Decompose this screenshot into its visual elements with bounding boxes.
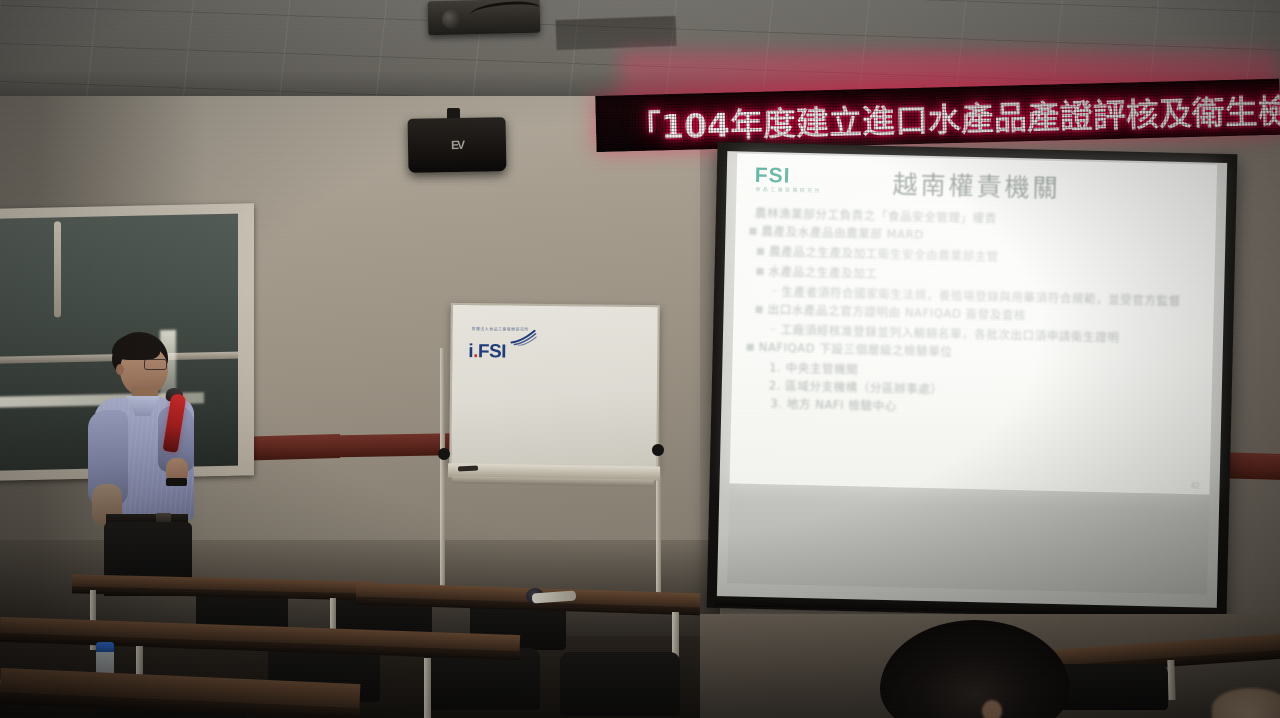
ifsi-logo: 財團法人食品工業發展研究所 i.FSI: [468, 341, 506, 363]
dado-band-mid: [250, 433, 460, 459]
slide-bullet-text: 農產及水產品由農業部 MARD: [761, 224, 924, 243]
window-blind-cord[interactable]: [54, 221, 61, 317]
whiteboard-pivot-knob-right[interactable]: [652, 444, 664, 456]
bullet-square-icon: [749, 224, 756, 241]
projected-slide: FSI 食品工業發展研究所 越南權責機關 農林漁業部分工負責之「食品安全管理」權…: [730, 153, 1218, 494]
chair[interactable]: [560, 652, 680, 716]
slide-bullet-text: 農產品之生產及加工衛生安全由農業部主管: [769, 244, 999, 264]
presenter: [82, 332, 222, 594]
slide-bullet-text: 3. 地方 NAFI 檢驗中心: [770, 396, 897, 414]
bullet-dash-icon: –: [772, 284, 777, 299]
slide-bullet-text: NAFIQAD 下設三個層級之檢驗單位: [759, 340, 953, 360]
whiteboard-marker[interactable]: [458, 465, 478, 471]
slide-bullet-text: 水產品之生產及加工: [768, 264, 877, 282]
whiteboard-pivot-knob-left[interactable]: [438, 448, 450, 460]
slide-page-number: 42: [1191, 481, 1200, 490]
table-leg: [424, 658, 431, 718]
bullet-square-icon: [747, 340, 754, 357]
glasses-icon: [144, 359, 167, 370]
projection-screen: FSI 食品工業發展研究所 越南權責機關 農林漁業部分工負責之「食品安全管理」權…: [707, 142, 1238, 620]
wristwatch: [166, 478, 187, 486]
slide-bullet-text: 2. 區域分支機構（分區辦事處）: [769, 378, 943, 397]
slide-bullet-text: 1. 中央主管機關: [769, 360, 858, 377]
slide-bullet-list: 農林漁業部分工負責之「食品安全管理」權責 農產及水產品由農業部 MARD 農產品…: [745, 206, 1206, 425]
ifsi-logo-text: i.FSI: [468, 341, 506, 363]
bullet-square-icon: [756, 264, 763, 281]
slide-title: 越南權責機關: [736, 161, 1217, 208]
presentation-room-photo: EV 「104年度建立進口水產品產證評核及衛生檢驗制度」 FSI 食品工業發展研…: [0, 0, 1280, 718]
slide-bullet-text: 出口水產品之官方證明由 NAFIQAD 簽發及查核: [767, 302, 1026, 323]
whiteboard-leg-left: [440, 348, 445, 600]
presenter-ear: [116, 364, 124, 375]
speaker-brand-logo: EV: [451, 138, 463, 152]
whiteboard-surface[interactable]: 財團法人食品工業發展研究所 i.FSI: [449, 303, 660, 469]
water-bottle-cap[interactable]: [96, 642, 114, 652]
swoosh-icon: [510, 330, 536, 346]
ceiling-speaker: EV: [408, 117, 507, 173]
attendee-ear: [982, 700, 1002, 718]
bullet-dash-icon: –: [771, 322, 776, 337]
bullet-square-icon: [757, 244, 764, 261]
bullet-square-icon: [755, 302, 762, 319]
ifsi-logo-fsi: FSI: [478, 341, 506, 362]
projector-lens-icon: [442, 10, 461, 29]
mobile-whiteboard: 財團法人食品工業發展研究所 i.FSI: [430, 300, 680, 620]
screen-blank-area: [727, 483, 1209, 594]
slide-bullet-text: 農林漁業部分工負責之「食品安全管理」權責: [755, 206, 997, 227]
table-leg: [1167, 660, 1175, 700]
